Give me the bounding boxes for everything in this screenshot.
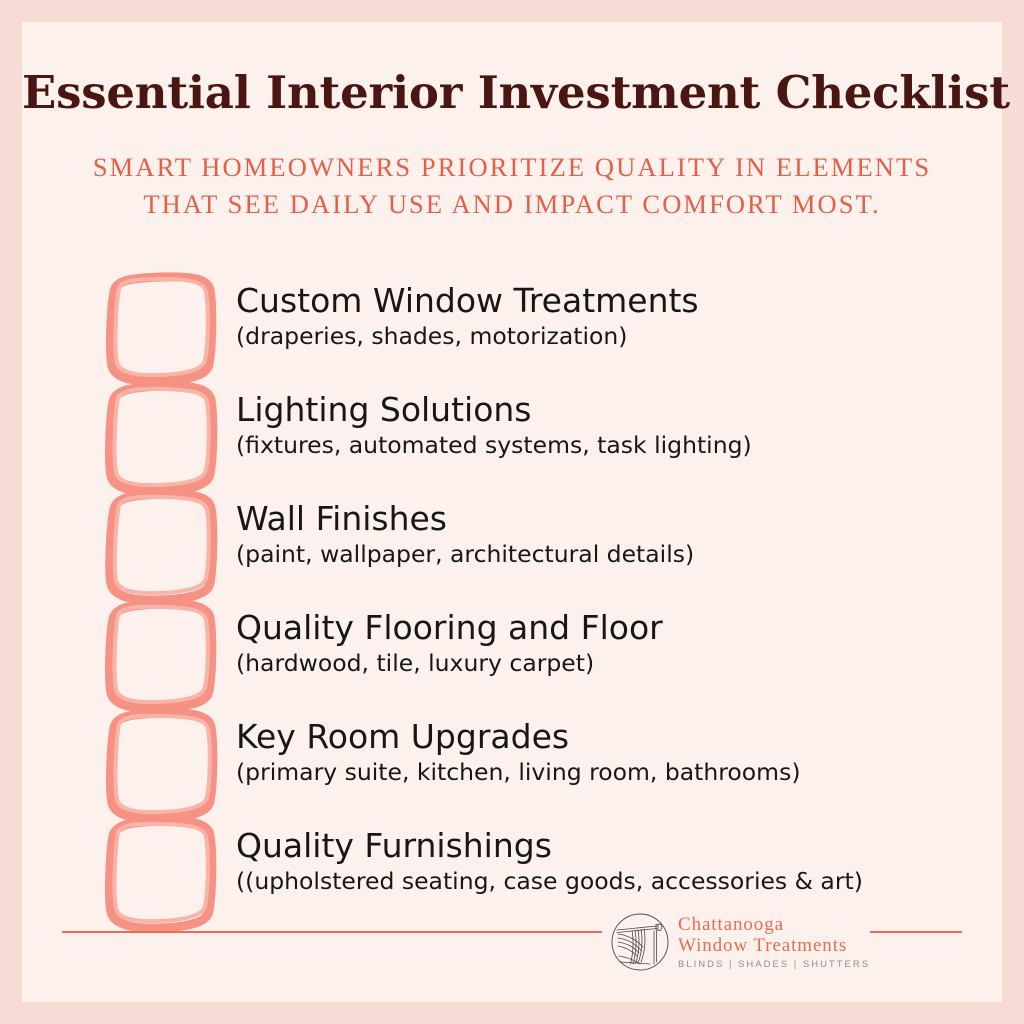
list-item-text: Wall Finishes (paint, wallpaper, archite… xyxy=(236,498,976,569)
list-item[interactable]: Wall Finishes (paint, wallpaper, archite… xyxy=(22,488,1002,606)
list-item[interactable]: Key Room Upgrades (primary suite, kitche… xyxy=(22,706,1002,824)
checkbox-3[interactable] xyxy=(100,488,222,606)
list-item-title: Wall Finishes xyxy=(236,498,976,539)
checkbox-5[interactable] xyxy=(100,706,222,824)
list-item-title: Key Room Upgrades xyxy=(236,716,976,757)
poster-frame: Essential Interior Investment Checklist … xyxy=(0,0,1024,1024)
poster-card: Essential Interior Investment Checklist … xyxy=(22,22,1002,1002)
list-item-subtitle: (draperies, shades, motorization) xyxy=(236,321,976,351)
list-item-text: Quality Furnishings ((upholstered seatin… xyxy=(236,825,976,896)
checkbox-2[interactable] xyxy=(100,379,222,497)
footer: Chattanooga Window Treatments BLINDS | S… xyxy=(22,902,1002,1002)
list-item-text: Lighting Solutions (fixtures, automated … xyxy=(236,389,976,460)
list-item-title: Lighting Solutions xyxy=(236,389,976,430)
checklist: Custom Window Treatments (draperies, sha… xyxy=(22,22,1002,1002)
brand-logo[interactable]: Chattanooga Window Treatments BLINDS | S… xyxy=(610,902,870,982)
list-item-subtitle: (hardwood, tile, luxury carpet) xyxy=(236,648,976,678)
list-item-text: Key Room Upgrades (primary suite, kitche… xyxy=(236,716,976,787)
divider-right xyxy=(870,931,962,933)
list-item-title: Quality Furnishings xyxy=(236,825,976,866)
list-item-title: Custom Window Treatments xyxy=(236,280,976,321)
list-item[interactable]: Quality Flooring and Floor (hardwood, ti… xyxy=(22,597,1002,715)
divider-left xyxy=(62,931,602,933)
list-item-subtitle: (primary suite, kitchen, living room, ba… xyxy=(236,757,976,787)
list-item-text: Quality Flooring and Floor (hardwood, ti… xyxy=(236,607,976,678)
brand-tagline: BLINDS | SHADES | SHUTTERS xyxy=(678,956,870,972)
list-item[interactable]: Lighting Solutions (fixtures, automated … xyxy=(22,379,1002,497)
brand-name-line-2: Window Treatments xyxy=(678,935,870,956)
list-item-subtitle: ((upholstered seating, case goods, acces… xyxy=(236,866,976,896)
list-item-subtitle: (paint, wallpaper, architectural details… xyxy=(236,539,976,569)
checkbox-1[interactable] xyxy=(100,270,222,388)
list-item-subtitle: (fixtures, automated systems, task light… xyxy=(236,430,976,460)
curtain-drapery-icon xyxy=(610,912,670,972)
brand-name-line-1: Chattanooga xyxy=(678,914,870,935)
brand-logo-text: Chattanooga Window Treatments BLINDS | S… xyxy=(678,912,870,972)
checkbox-4[interactable] xyxy=(100,597,222,715)
list-item-text: Custom Window Treatments (draperies, sha… xyxy=(236,280,976,351)
list-item-title: Quality Flooring and Floor xyxy=(236,607,976,648)
list-item[interactable]: Custom Window Treatments (draperies, sha… xyxy=(22,270,1002,388)
